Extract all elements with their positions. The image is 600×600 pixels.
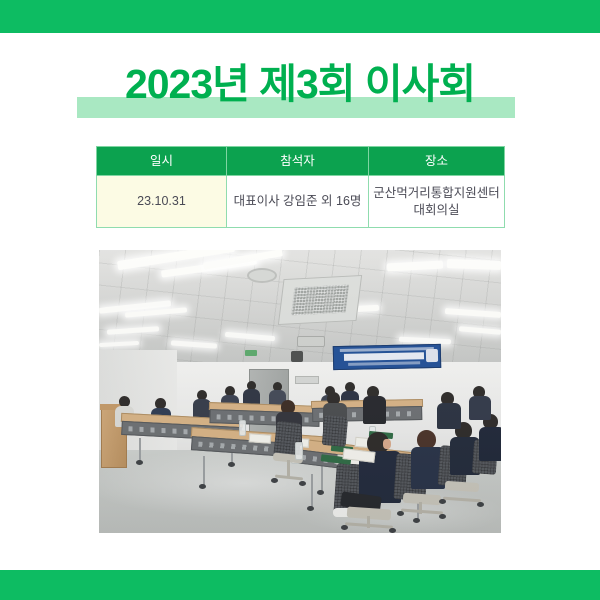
ceiling-ac-unit bbox=[278, 275, 362, 325]
table-caster bbox=[317, 490, 324, 495]
wall-sign bbox=[295, 376, 319, 384]
banner-logo bbox=[426, 349, 438, 362]
column-header-attendees: 참석자 bbox=[227, 147, 369, 176]
chair-caster bbox=[477, 502, 484, 507]
water-bottle bbox=[295, 442, 303, 460]
cell-place: 군산먹거리통합지원센터 대회의실 bbox=[369, 176, 505, 228]
chair-caster bbox=[439, 514, 446, 519]
meeting-photo bbox=[99, 250, 501, 533]
cell-place-line1: 군산먹거리통합지원센터 bbox=[373, 186, 500, 200]
top-green-band bbox=[0, 0, 600, 33]
projector bbox=[297, 336, 325, 347]
chair-caster bbox=[341, 525, 348, 530]
chair-caster bbox=[299, 481, 306, 486]
table-caster bbox=[136, 460, 143, 465]
page-title: 2023년 제3회 이사회 bbox=[0, 58, 600, 110]
table-caster bbox=[307, 506, 314, 511]
column-header-place: 장소 bbox=[369, 147, 505, 176]
cell-attendees: 대표이사 강임준 외 16명 bbox=[227, 176, 369, 228]
document bbox=[249, 433, 272, 444]
exit-sign bbox=[245, 350, 257, 356]
office-chair-back bbox=[322, 415, 349, 447]
table-leg bbox=[139, 438, 141, 462]
chair-caster bbox=[397, 511, 404, 516]
poster-page: 2023년 제3회 이사회 일시 참석자 장소 23.10.31 대표이사 강임… bbox=[0, 0, 600, 600]
cell-date: 23.10.31 bbox=[97, 176, 227, 228]
chair-caster bbox=[271, 478, 278, 483]
ceiling-vent bbox=[247, 268, 277, 283]
table-leg bbox=[311, 474, 313, 508]
banner-text-line3 bbox=[348, 361, 420, 366]
table-row: 23.10.31 대표이사 강임준 외 16명 군산먹거리통합지원센터 대회의실 bbox=[97, 176, 505, 228]
table-caster bbox=[413, 518, 420, 523]
table-caster bbox=[228, 462, 235, 467]
cell-place-line2: 대회의실 bbox=[413, 203, 459, 217]
banner-text-line1 bbox=[340, 347, 434, 352]
table-caster bbox=[199, 484, 206, 489]
meeting-banner bbox=[333, 344, 441, 370]
bottom-green-band bbox=[0, 570, 600, 600]
chair-caster bbox=[439, 499, 446, 504]
ceiling-light bbox=[447, 259, 501, 270]
table-header-row: 일시 참석자 장소 bbox=[97, 147, 505, 176]
photo-scene bbox=[99, 250, 501, 533]
page-title-area: 2023년 제3회 이사회 bbox=[0, 58, 600, 120]
column-header-date: 일시 bbox=[97, 147, 227, 176]
chair-caster bbox=[389, 528, 396, 533]
table-leg bbox=[203, 456, 205, 486]
ceiling-speaker bbox=[291, 351, 303, 362]
banner-text-line2 bbox=[344, 352, 424, 361]
water-bottle bbox=[239, 420, 246, 436]
meeting-info-table: 일시 참석자 장소 23.10.31 대표이사 강임준 외 16명 군산먹거리통… bbox=[96, 146, 505, 228]
